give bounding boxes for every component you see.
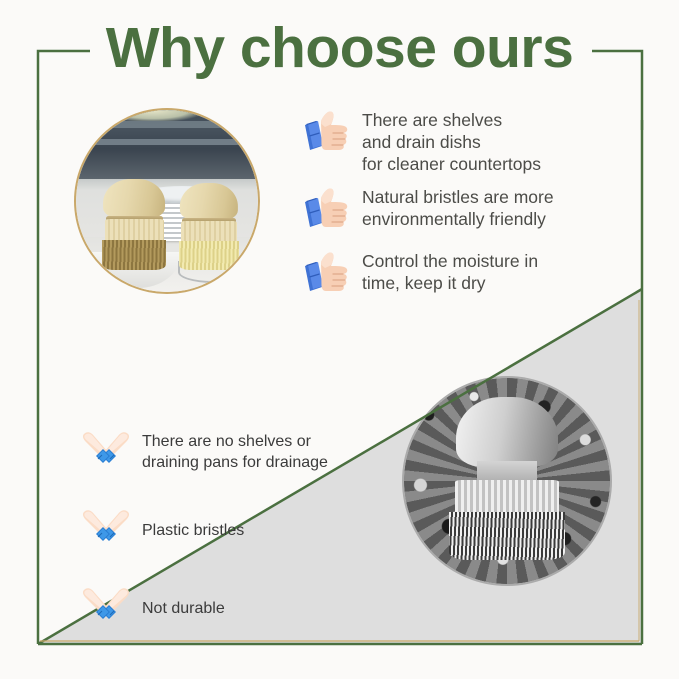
crossed-hands-icon	[78, 584, 134, 632]
plastic-brush	[453, 397, 560, 558]
plastic-dish-brush-photo-bw	[404, 378, 610, 584]
cons-list: There are no shelves or draining pans fo…	[78, 428, 398, 662]
list-item-label: Not durable	[142, 598, 225, 619]
infographic-root: Why choose ours There are shelves an	[0, 0, 679, 679]
list-item-label: Control the moisture in time, keep it dr…	[362, 249, 538, 294]
wood-brush-left	[103, 179, 165, 266]
pros-list: There are shelves and drain dishs for cl…	[300, 108, 636, 309]
list-item-label: Natural bristles are more environmentall…	[362, 185, 554, 230]
list-item-label: There are shelves and drain dishs for cl…	[362, 108, 541, 175]
list-item: There are shelves and drain dishs for cl…	[300, 108, 636, 175]
list-item: Plastic bristles	[78, 506, 398, 554]
list-item: Not durable	[78, 584, 398, 632]
window-sill	[76, 121, 258, 128]
thumbs-up-icon	[300, 108, 356, 158]
thumbs-up-icon	[300, 185, 356, 235]
wood-brush-right	[180, 183, 238, 267]
thumbs-up-icon	[300, 249, 356, 299]
crossed-hands-icon	[78, 428, 134, 476]
window-light	[105, 110, 200, 121]
wooden-dish-brushes-photo	[76, 110, 258, 292]
list-item-label: Plastic bristles	[142, 520, 244, 541]
crossed-hands-icon	[78, 506, 134, 554]
list-item: Natural bristles are more environmentall…	[300, 185, 636, 235]
list-item: Control the moisture in time, keep it dr…	[300, 249, 636, 299]
list-item-label: There are no shelves or draining pans fo…	[142, 431, 328, 473]
page-title: Why choose ours	[0, 15, 679, 81]
list-item: There are no shelves or draining pans fo…	[78, 428, 398, 476]
window-ledge	[76, 139, 258, 144]
